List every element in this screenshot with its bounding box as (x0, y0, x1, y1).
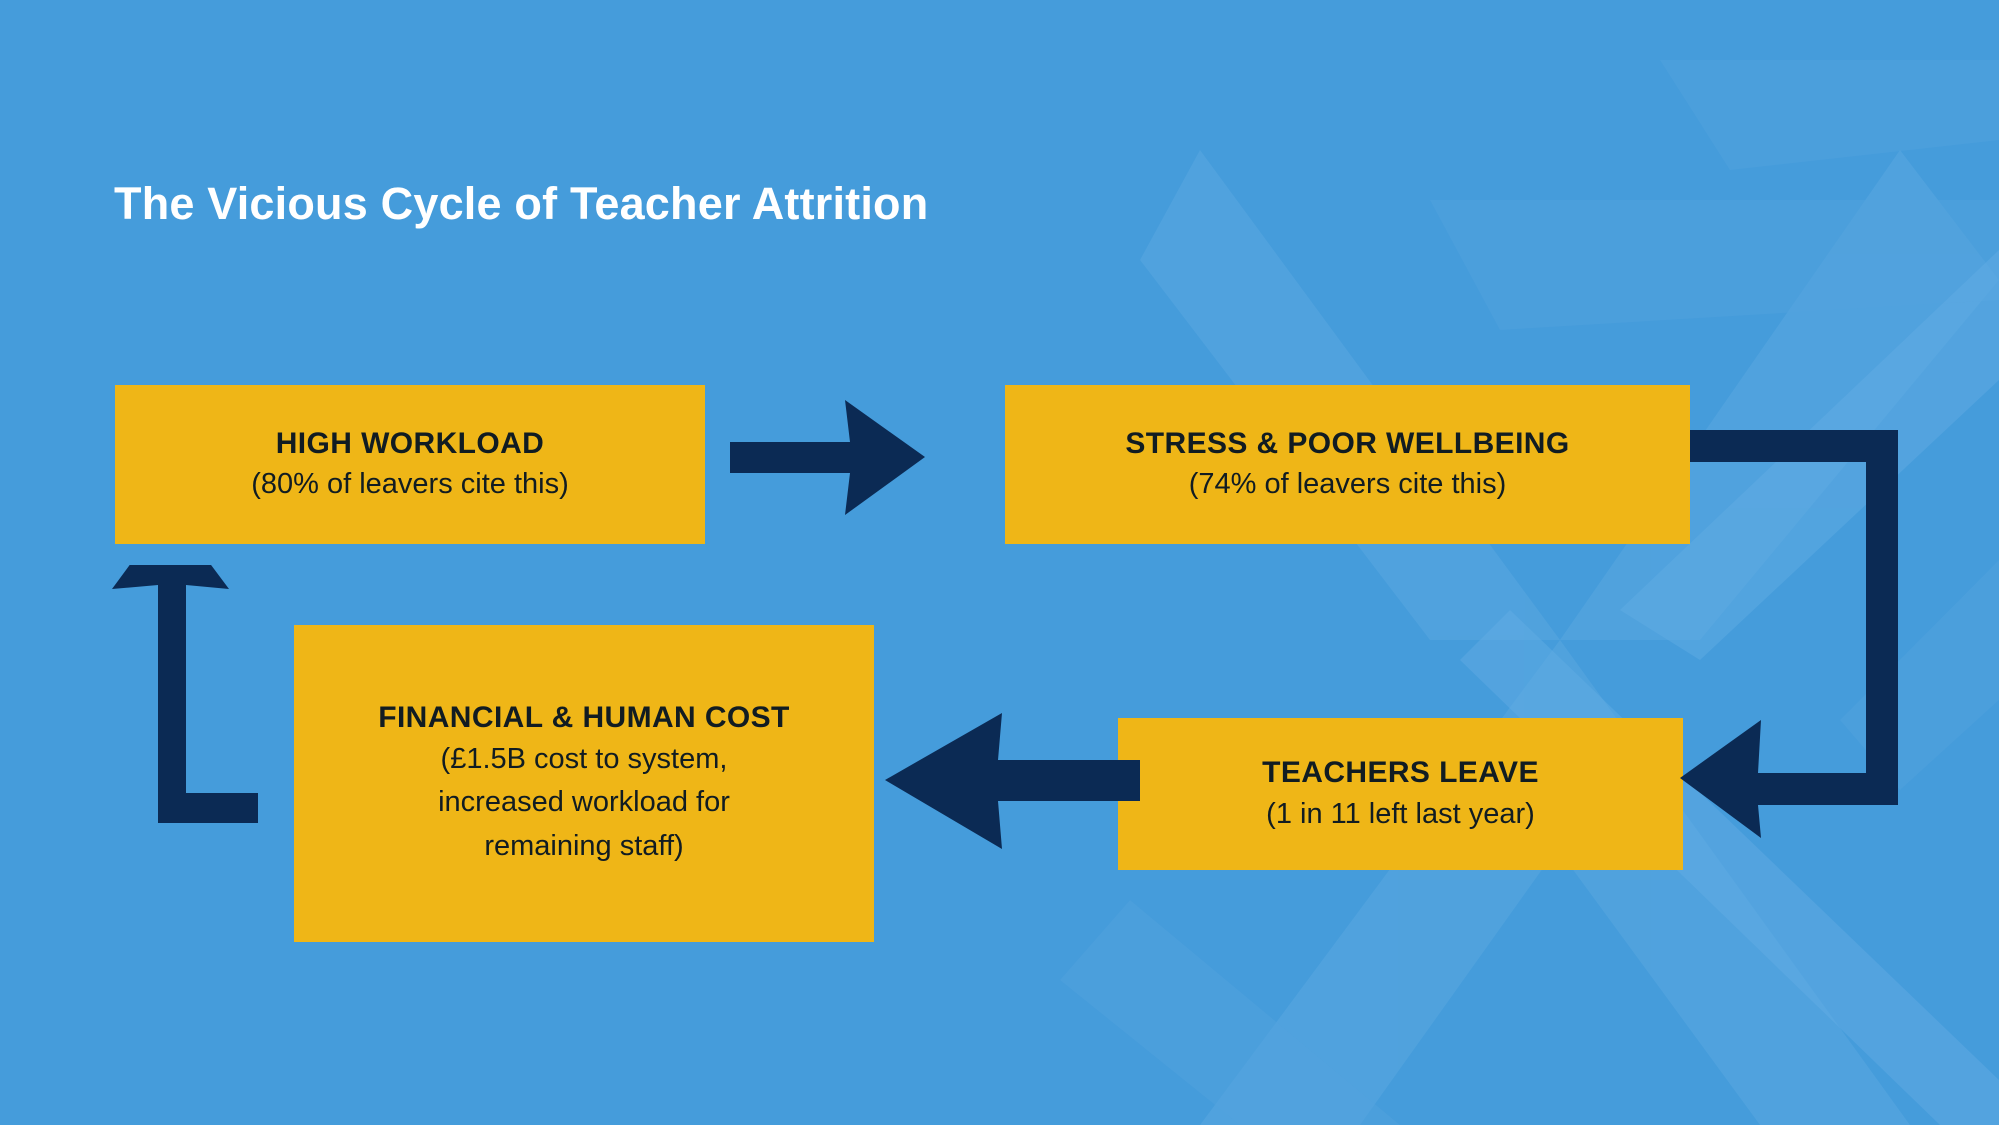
elbow-arrow-up-icon (90, 565, 290, 825)
node-stress-poor-wellbeing[interactable]: STRESS & POOR WELLBEING (74% of leavers … (1005, 385, 1690, 544)
arrow-left-icon (880, 705, 1140, 855)
diagram-canvas: The Vicious Cycle of Teacher Attrition H… (0, 0, 1999, 1125)
node-financial-subtitle-line1: (£1.5B cost to system, (441, 739, 728, 780)
elbow-arrow-down-left-icon (1680, 430, 1930, 840)
node-financial-title: FINANCIAL & HUMAN COST (378, 700, 790, 735)
background-watermark (0, 0, 1999, 1125)
node-financial-subtitle-line3: remaining staff) (484, 826, 683, 867)
node-financial-subtitle-line2: increased workload for (438, 782, 730, 823)
node-teachers-leave-subtitle: (1 in 11 left last year) (1266, 796, 1535, 833)
arrow-right-icon (730, 395, 930, 520)
node-financial-human-cost[interactable]: FINANCIAL & HUMAN COST (£1.5B cost to sy… (294, 625, 874, 942)
node-teachers-leave-title: TEACHERS LEAVE (1262, 755, 1539, 790)
node-high-workload-subtitle: (80% of leavers cite this) (251, 466, 569, 503)
node-stress-subtitle: (74% of leavers cite this) (1189, 466, 1507, 503)
node-high-workload[interactable]: HIGH WORKLOAD (80% of leavers cite this) (115, 385, 705, 544)
node-teachers-leave[interactable]: TEACHERS LEAVE (1 in 11 left last year) (1118, 718, 1683, 870)
page-title: The Vicious Cycle of Teacher Attrition (114, 178, 928, 230)
node-high-workload-title: HIGH WORKLOAD (276, 426, 545, 461)
node-stress-title: STRESS & POOR WELLBEING (1125, 426, 1569, 461)
